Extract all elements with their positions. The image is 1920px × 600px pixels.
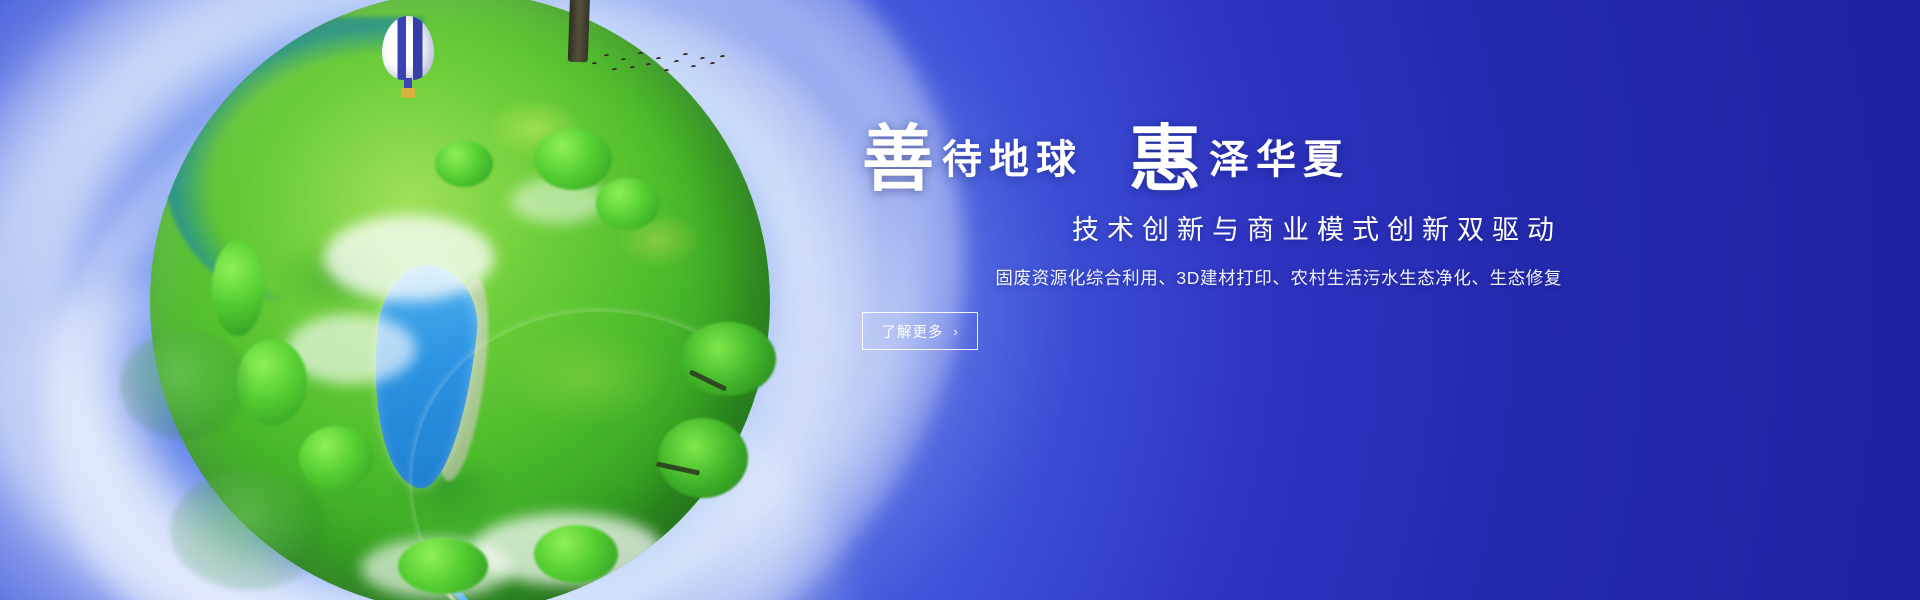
forest-canopy-6 (212, 240, 264, 336)
hero-copy: 善 待地球 惠 泽华夏 技术创新与商业模式创新双驱动 固废资源化综合利用、3D建… (862, 120, 1562, 350)
bird-icon (683, 53, 688, 57)
forest-canopy-7 (398, 538, 488, 594)
page-title: 善 待地球 惠 泽华夏 (862, 120, 1562, 186)
bird-icon (710, 62, 715, 66)
bird-icon (656, 57, 661, 61)
bird-icon (646, 63, 651, 67)
bird-icon (592, 62, 597, 66)
forest-canopy-3 (435, 141, 493, 187)
bird-icon (621, 58, 626, 62)
surface-cloud-1 (324, 215, 494, 301)
side-tree-2 (650, 412, 760, 522)
forest-canopy-5 (299, 426, 373, 490)
bird-icon (664, 69, 669, 73)
hero-banner: 善 待地球 惠 泽华夏 技术创新与商业模式创新双驱动 固废资源化综合利用、3D建… (0, 0, 1920, 600)
bird-icon (700, 57, 705, 61)
balloon-basket (401, 88, 415, 98)
bird-icon (691, 65, 696, 69)
headline-rest-zehuaxia: 泽华夏 (1201, 140, 1350, 186)
balloon-envelope (382, 16, 434, 80)
bird-icon (720, 55, 725, 59)
bird-icon (638, 52, 643, 56)
bird-icon (630, 66, 635, 70)
learn-more-label: 了解更多 (881, 321, 943, 342)
tree-trunk (568, 0, 593, 62)
cta-row: 了解更多 › (862, 312, 1562, 350)
side-tree-crown (680, 322, 776, 396)
foreground-foliage-2 (170, 470, 330, 590)
headline-rest-daidiqiu: 待地球 (934, 140, 1083, 186)
forest-canopy-2 (596, 178, 660, 230)
foreground-foliage-1 (120, 330, 250, 440)
learn-more-button[interactable]: 了解更多 › (862, 312, 978, 350)
chevron-right-icon: › (953, 324, 958, 339)
headline-char-shan: 善 (862, 126, 934, 192)
hot-air-balloon (382, 16, 434, 108)
side-tree-crown (658, 418, 748, 498)
hero-subtitle: 技术创新与商业模式创新双驱动 (862, 208, 1562, 247)
bird-icon (604, 54, 609, 58)
headline-char-hui: 惠 (1129, 126, 1201, 192)
bird-flock (590, 48, 730, 88)
hero-description: 固废资源化综合利用、3D建材打印、农村生活污水生态净化、生态修复 (862, 265, 1562, 290)
bird-icon (674, 60, 679, 64)
bird-icon (612, 68, 617, 72)
balloon-neck (404, 78, 412, 88)
